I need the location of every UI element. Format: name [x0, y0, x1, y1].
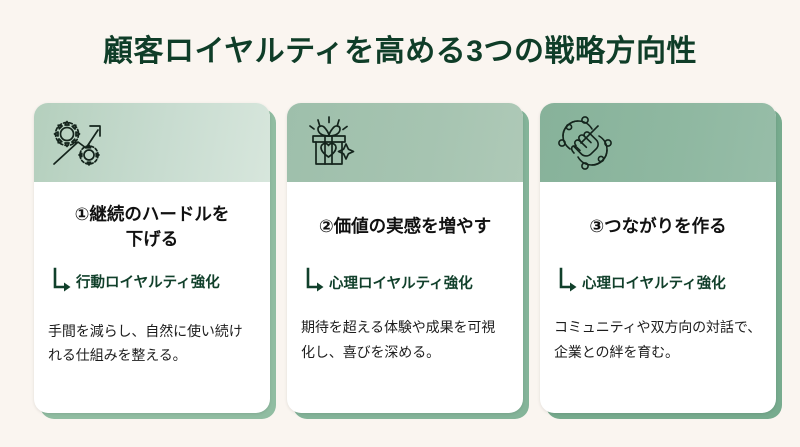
slide-canvas: 顧客ロイヤルティを高める3つの戦略方向性 [0, 0, 800, 447]
strategy-card-1[interactable]: ①継続のハードルを 下げる 行動ロイヤルティ強化 手間を減らし、自然に使い続けれ… [34, 103, 270, 413]
strategy-card-3[interactable]: ③つながりを作る 心理ロイヤルティ強化 コミュニティや双方向の対話で、企業との絆… [540, 103, 776, 413]
down-right-arrow-icon [558, 267, 578, 293]
card-surface: ①継続のハードルを 下げる 行動ロイヤルティ強化 手間を減らし、自然に使い続けれ… [34, 103, 270, 413]
strategy-card-list: ①継続のハードルを 下げる 行動ロイヤルティ強化 手間を減らし、自然に使い続けれ… [34, 103, 776, 413]
joined-hands-network-icon [554, 112, 616, 174]
gift-heart-sparkle-icon [301, 112, 363, 174]
card-description: コミュニティや双方向の対話で、企業との絆を育む。 [554, 315, 762, 364]
card-heading-line-2: 下げる [126, 229, 179, 249]
card-body: ①継続のハードルを 下げる 行動ロイヤルティ強化 手間を減らし、自然に使い続けれ… [34, 182, 270, 413]
card-body: ③つながりを作る 心理ロイヤルティ強化 コミュニティや双方向の対話で、企業との絆… [540, 182, 776, 413]
gears-growth-arrow-icon [48, 112, 110, 174]
card-body: ②価値の実感を増やす 心理ロイヤルティ強化 期待を超える体験や成果を可視化し、喜… [287, 182, 523, 413]
card-subtag: 行動ロイヤルティ強化 [48, 267, 256, 293]
card-heading-line-1: ①継続のハードルを [75, 204, 230, 224]
down-right-arrow-icon [52, 267, 72, 293]
card-subtag-label: 行動ロイヤルティ強化 [76, 276, 220, 293]
card-heading: ②価値の実感を増やす [301, 214, 509, 239]
card-heading: ①継続のハードルを 下げる [48, 202, 256, 253]
card-header [287, 103, 523, 182]
card-header [540, 103, 776, 182]
card-subtag: 心理ロイヤルティ強化 [554, 267, 762, 293]
card-heading: ③つながりを作る [554, 214, 762, 239]
strategy-card-2[interactable]: ②価値の実感を増やす 心理ロイヤルティ強化 期待を超える体験や成果を可視化し、喜… [287, 103, 523, 413]
card-surface: ②価値の実感を増やす 心理ロイヤルティ強化 期待を超える体験や成果を可視化し、喜… [287, 103, 523, 413]
down-right-arrow-icon [305, 267, 325, 293]
card-description: 期待を超える体験や成果を可視化し、喜びを深める。 [301, 315, 509, 364]
card-description: 手間を減らし、自然に使い続けれる仕組みを整える。 [48, 319, 256, 368]
card-subtag-label: 心理ロイヤルティ強化 [329, 277, 473, 294]
card-header [34, 103, 270, 182]
page-title: 顧客ロイヤルティを高める3つの戦略方向性 [0, 34, 800, 70]
card-surface: ③つながりを作る 心理ロイヤルティ強化 コミュニティや双方向の対話で、企業との絆… [540, 103, 776, 413]
card-subtag-label: 心理ロイヤルティ強化 [582, 277, 726, 294]
card-subtag: 心理ロイヤルティ強化 [301, 267, 509, 293]
